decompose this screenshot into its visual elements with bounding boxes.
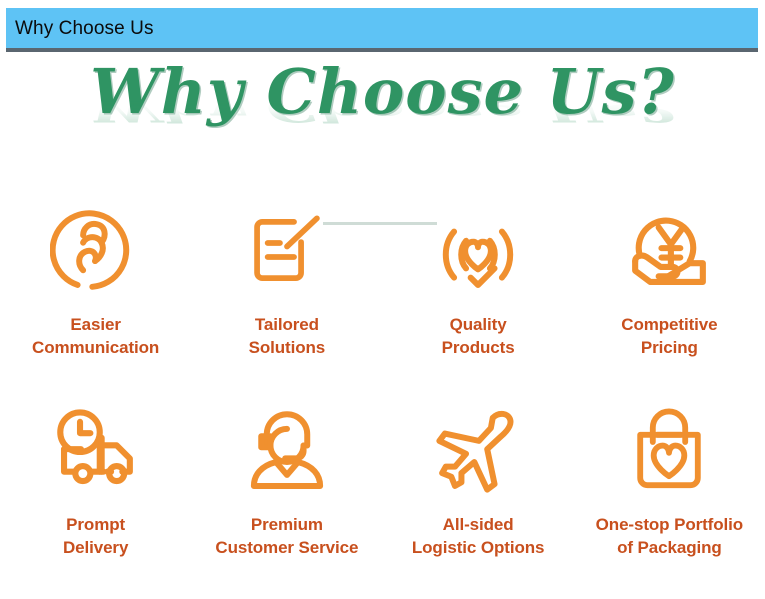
feature-row-1: Easier Communication Tailored Solutions [0,198,765,360]
hero-title-reflection: Why Choose Us? [0,93,765,126]
feature-label: Prompt Delivery [63,514,128,560]
feature-item-customer-service[interactable]: Premium Customer Service [191,402,382,560]
window-title: Why Choose Us [6,19,154,38]
hero-reflection-text: Why Choose Us? [90,91,675,129]
document-pencil-icon [235,198,339,302]
hand-holding-yen-coin-icon [617,198,721,302]
headset-agent-icon [235,402,339,500]
feature-label: Quality Products [442,314,515,360]
feature-grid: Easier Communication Tailored Solutions [0,198,765,560]
feature-label: One-stop Portfolio of Packaging [596,514,743,560]
page-content: Why Choose Us? Why Choose Us? Easier Com… [0,56,765,599]
feature-item-prompt-delivery[interactable]: Prompt Delivery [0,402,191,560]
window-header-bar: Why Choose Us [6,8,758,52]
feature-item-packaging-portfolio[interactable]: One-stop Portfolio of Packaging [574,402,765,560]
feature-label: Competitive Pricing [621,314,717,360]
feature-item-quality-products[interactable]: Quality Products [383,198,574,360]
feature-label: All-sided Logistic Options [412,514,545,560]
feature-item-competitive-pricing[interactable]: Competitive Pricing [574,198,765,360]
feature-item-tailored-solutions[interactable]: Tailored Solutions [191,198,382,360]
delivery-truck-clock-icon [44,402,148,500]
heart-signal-check-icon [426,198,530,302]
feature-label: Easier Communication [32,314,159,360]
ear-listening-icon [44,198,148,302]
airplane-icon [426,402,530,500]
feature-row-2: Prompt Delivery Premium Customer Service [0,402,765,560]
feature-item-easier-communication[interactable]: Easier Communication [0,198,191,360]
feature-label: Premium Customer Service [215,514,358,560]
feature-label: Tailored Solutions [249,314,326,360]
hero-banner: Why Choose Us? Why Choose Us? [0,60,765,172]
shopping-bag-heart-icon [617,402,721,500]
feature-item-logistic-options[interactable]: All-sided Logistic Options [383,402,574,560]
